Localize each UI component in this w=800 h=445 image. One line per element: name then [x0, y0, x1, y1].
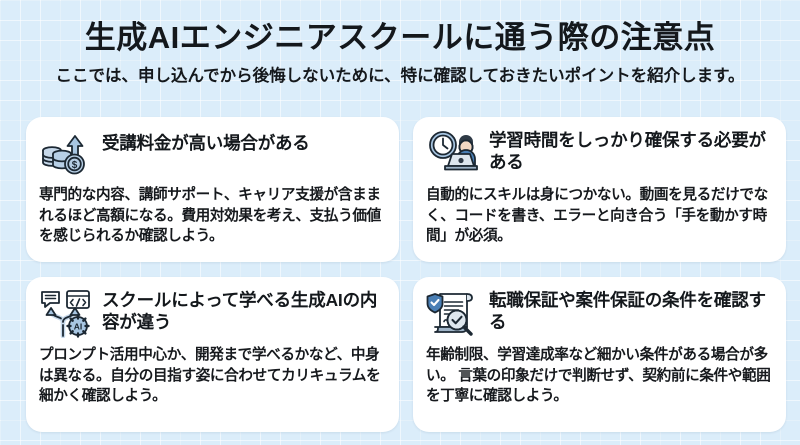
svg-text:AI: AI: [74, 322, 83, 332]
card-title: 学習時間をしっかり確保する必要がある: [489, 128, 773, 174]
card-body: プロンプト活用中心か、開発まで学べるかなど、中身は異なる。自分の目指す姿に合わせ…: [39, 345, 386, 407]
card-body: 専門的な内容、講師サポート、キャリア支援が含ままれるほど高額になる。費用対効果を…: [39, 185, 386, 247]
card-title: 受講料金が高い場合がある: [102, 128, 310, 154]
certificate-shield-magnifier-icon: [426, 288, 480, 338]
card-study-time: 学習時間をしっかり確保する必要がある 自動的にスキルは身につかない。動画を見るだ…: [413, 117, 786, 262]
card-header: AI スクールによって学べる生成AIの内容が違う: [39, 288, 386, 338]
infographic-canvas: 生成AIエンジニアスクールに通う際の注意点 ここでは、申し込んでから後悔しないた…: [0, 0, 800, 445]
card-title: スクールによって学べる生成AIの内容が違う: [102, 288, 386, 334]
card-curriculum-differs: AI スクールによって学べる生成AIの内容が違う プロンプト活用中心か、開発まで…: [26, 277, 399, 432]
page-title: 生成AIエンジニアスクールに通う際の注意点: [0, 20, 800, 56]
branching-path-ai-icon: AI: [39, 288, 93, 338]
card-body: 年齢制限、学習達成率など細かい条件がある場合が多い。 言葉の印象だけで判断せず、…: [426, 345, 773, 407]
coins-up-arrow-icon: $: [39, 128, 93, 178]
card-header: 学習時間をしっかり確保する必要がある: [426, 128, 773, 178]
page-subtitle: ここでは、申し込んでから後悔しないために、特に確認しておきたいポイントを紹介しま…: [0, 67, 800, 87]
card-header: 転職保証や案件保証の条件を確認する: [426, 288, 773, 338]
svg-text:$: $: [72, 160, 78, 171]
card-grid: $ 受講料金が高い場合がある 専門的な内容、講師サポート、キャリア支援が含ままれ…: [26, 117, 774, 432]
clock-person-laptop-icon: [426, 128, 480, 178]
card-header: $ 受講料金が高い場合がある: [39, 128, 386, 178]
card-tuition-cost: $ 受講料金が高い場合がある 専門的な内容、講師サポート、キャリア支援が含ままれ…: [26, 117, 399, 262]
card-guarantee-conditions: 転職保証や案件保証の条件を確認する 年齢制限、学習達成率など細かい条件がある場合…: [413, 277, 786, 432]
card-body: 自動的にスキルは身につかない。動画を見るだけでなく、コードを書き、エラーと向き合…: [426, 185, 773, 247]
card-title: 転職保証や案件保証の条件を確認する: [489, 288, 773, 334]
header: 生成AIエンジニアスクールに通う際の注意点 ここでは、申し込んでから後悔しないた…: [0, 0, 800, 86]
